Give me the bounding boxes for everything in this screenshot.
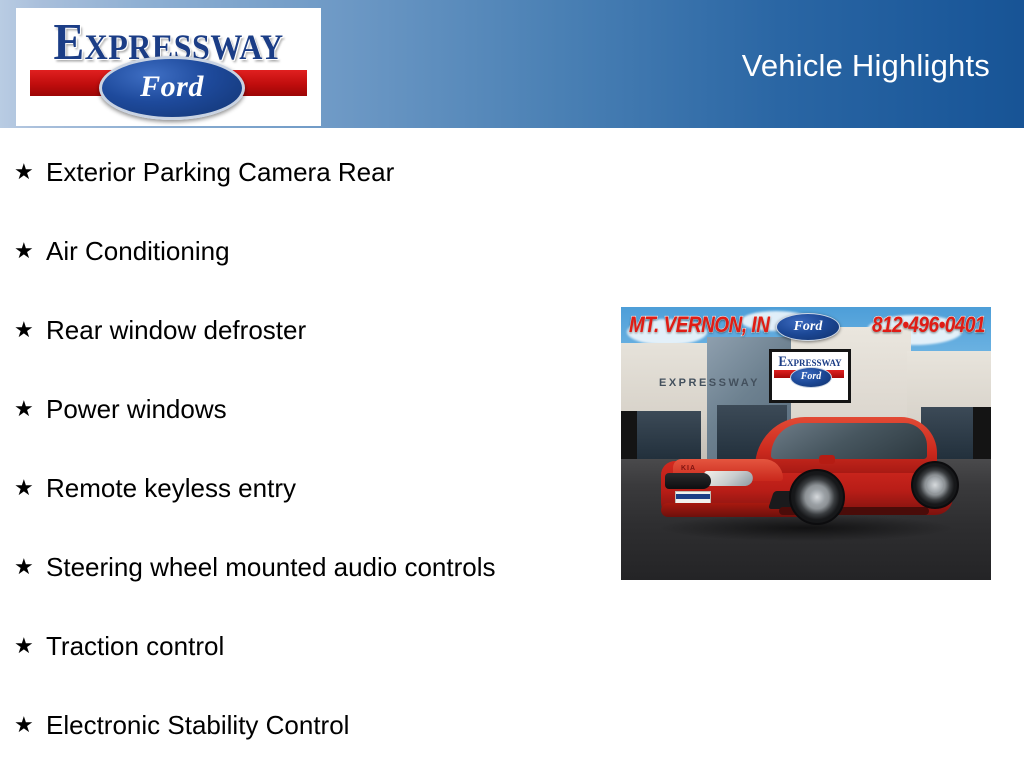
- wheel-hub: [809, 489, 825, 505]
- photo-overlay-phone: 812•496•0401: [872, 313, 985, 339]
- car-grille: [665, 473, 711, 489]
- photo-ford-oval-icon: Ford: [776, 313, 840, 341]
- list-item: ★ Traction control: [0, 618, 620, 697]
- vehicle-highlights-list: ★ Exterior Parking Camera Rear ★ Air Con…: [0, 144, 620, 776]
- star-icon: ★: [14, 381, 34, 437]
- list-item: ★ Remote keyless entry: [0, 460, 620, 539]
- dealer-logo-oval-text: Ford: [102, 59, 242, 117]
- list-item-label: Electronic Stability Control: [46, 710, 349, 740]
- list-item: ★ Exterior Parking Camera Rear: [0, 144, 620, 223]
- list-item: ★ Power windows: [0, 381, 620, 460]
- dealership-sign-ford-oval-icon: Ford: [790, 367, 832, 388]
- list-item-label: Power windows: [46, 394, 227, 424]
- page-title: Vehicle Highlights: [742, 48, 990, 84]
- list-item-label: Air Conditioning: [46, 236, 230, 266]
- car-side-mirror: [819, 455, 835, 464]
- star-icon: ★: [14, 223, 34, 279]
- star-icon: ★: [14, 618, 34, 674]
- star-icon: ★: [14, 697, 34, 753]
- list-item-label: Exterior Parking Camera Rear: [46, 157, 394, 187]
- ford-oval-icon: Ford: [99, 56, 245, 120]
- car-badge: KIA: [681, 465, 696, 472]
- star-icon: ★: [14, 302, 34, 358]
- photo-ford-oval-text: Ford: [777, 314, 839, 340]
- car-windows: [771, 423, 927, 459]
- vehicle-body: KIA: [659, 415, 955, 527]
- car-front-wheel: [789, 469, 845, 525]
- building-bay-door: [621, 411, 637, 459]
- dealership-sign-oval-text: Ford: [791, 368, 831, 387]
- building-signage-text: EXPRESSWAY: [659, 377, 760, 389]
- building-bay-door: [973, 407, 991, 459]
- star-icon: ★: [14, 539, 34, 595]
- list-item: ★ Steering wheel mounted audio controls: [0, 539, 620, 618]
- list-item-label: Steering wheel mounted audio controls: [46, 552, 496, 582]
- wheel-hub: [927, 477, 943, 493]
- plate-top-band: [676, 494, 710, 499]
- list-item-label: Rear window defroster: [46, 315, 306, 345]
- vehicle-photo: EXPRESSWAY KIA MT. VERNON, IN 812•496•04…: [621, 307, 991, 580]
- list-item-label: Traction control: [46, 631, 224, 661]
- list-item: ★ Electronic Stability Control: [0, 697, 620, 776]
- list-item: ★ Rear window defroster: [0, 302, 620, 381]
- dealership-sign: Expressway Ford: [769, 349, 851, 403]
- list-item-label: Remote keyless entry: [46, 473, 296, 503]
- dealer-logo: Expressway Ford: [16, 8, 321, 126]
- list-item: ★ Air Conditioning: [0, 223, 620, 302]
- car-rear-wheel: [911, 461, 959, 509]
- photo-overlay-city: MT. VERNON, IN: [629, 313, 769, 339]
- star-icon: ★: [14, 460, 34, 516]
- star-icon: ★: [14, 144, 34, 200]
